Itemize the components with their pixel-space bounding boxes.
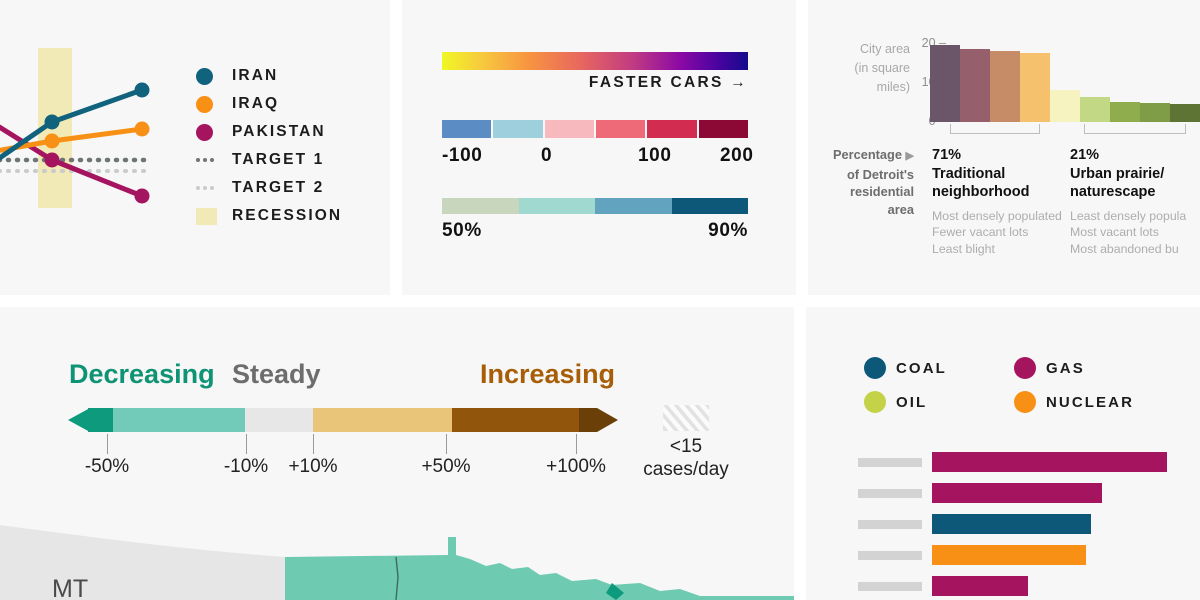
legend-label: PAKISTAN bbox=[232, 123, 326, 141]
tick-mark bbox=[576, 434, 577, 454]
legend-dot-icon bbox=[1014, 357, 1036, 379]
legend-dot-icon bbox=[864, 357, 886, 379]
row-label-placeholder bbox=[858, 551, 922, 560]
group-title-line: Traditional bbox=[932, 165, 1082, 184]
tick-label: 100 bbox=[638, 145, 672, 167]
heading-decreasing: Decreasing bbox=[69, 359, 215, 390]
bar bbox=[932, 545, 1086, 565]
detroit-group-prairie: 21% Urban prairie/ naturescape Least den… bbox=[1070, 146, 1200, 257]
tick-mark bbox=[313, 434, 314, 454]
bar bbox=[990, 51, 1020, 122]
legend-item-nuclear[interactable]: NUCLEAR bbox=[1014, 391, 1164, 413]
panel-color-scales: FASTER CARS → -100 0 100 200 50% 90% bbox=[402, 0, 796, 295]
group-title-line: neighborhood bbox=[932, 183, 1082, 202]
panel-covid-trend: Decreasing Steady Increasing -50% -10% +… bbox=[0, 307, 794, 600]
series-point-iraq bbox=[135, 122, 150, 137]
legend-label: IRAN bbox=[232, 67, 278, 85]
map-state-active bbox=[285, 537, 794, 600]
color-swatch bbox=[442, 120, 491, 138]
group-title-line: Urban prairie/ bbox=[1070, 165, 1200, 184]
legend-dot-icon bbox=[196, 68, 224, 85]
y-axis-title-line: City area bbox=[828, 40, 910, 59]
color-swatch bbox=[595, 198, 672, 214]
heading-steady: Steady bbox=[232, 359, 321, 390]
series-point-iraq bbox=[45, 134, 60, 149]
caption-line: of Detroit's bbox=[828, 166, 914, 184]
row-label-placeholder bbox=[858, 458, 922, 467]
bar-row bbox=[858, 514, 1198, 534]
legend-item-iran[interactable]: IRAN bbox=[196, 62, 342, 90]
row-label-placeholder bbox=[858, 582, 922, 591]
covid-diverging-scale bbox=[68, 406, 618, 434]
caption-line: residential bbox=[828, 183, 914, 201]
caption-line: area bbox=[828, 201, 914, 219]
line-chart-plot bbox=[0, 40, 160, 230]
series-point-pakistan bbox=[45, 153, 60, 168]
legend-item-iraq[interactable]: IRAQ bbox=[196, 90, 342, 118]
group-notes: Least densely popula Most vacant lots Mo… bbox=[1070, 208, 1200, 258]
legend-label: IRAQ bbox=[232, 95, 279, 113]
bar bbox=[1050, 90, 1080, 122]
tick-label: -100 bbox=[442, 145, 482, 167]
color-swatch bbox=[545, 120, 594, 138]
series-point-iran bbox=[45, 115, 60, 130]
sequential-color-segments bbox=[442, 198, 748, 214]
series-point-pakistan bbox=[135, 189, 150, 204]
heading-increasing: Increasing bbox=[480, 359, 615, 390]
bar bbox=[960, 49, 990, 122]
us-choropleth-map[interactable]: MT bbox=[0, 497, 794, 600]
note-line: Most densely populated bbox=[932, 208, 1082, 225]
legend-dot-icon bbox=[864, 391, 886, 413]
y-axis-title: City area (in square miles) bbox=[828, 40, 910, 97]
note-line: Least blight bbox=[932, 241, 1082, 258]
group-bracket-traditional bbox=[950, 124, 1040, 134]
panel-energy: COAL GAS OIL NUCLEAR bbox=[806, 307, 1200, 600]
color-swatch bbox=[699, 120, 748, 138]
note-line: Least densely popula bbox=[1070, 208, 1200, 225]
caption-line: Percentage ▶ bbox=[828, 146, 914, 166]
group-notes: Most densely populated Fewer vacant lots… bbox=[932, 208, 1082, 258]
tick-label: +50% bbox=[421, 456, 470, 478]
legend-item-gas[interactable]: GAS bbox=[1014, 357, 1164, 379]
y-axis-title-line: miles) bbox=[828, 78, 910, 97]
scale-segment bbox=[88, 408, 113, 432]
y-axis-title-line: (in square bbox=[828, 59, 910, 78]
scale-right-arrow bbox=[597, 408, 618, 432]
legend-dot-icon bbox=[196, 96, 224, 113]
detroit-group-traditional: 71% Traditional neighborhood Most densel… bbox=[932, 146, 1082, 257]
dotted-line-icon bbox=[196, 158, 224, 162]
legend-label: COAL bbox=[896, 360, 947, 377]
color-swatch bbox=[442, 198, 519, 214]
bar bbox=[1080, 97, 1110, 122]
tick-label: +10% bbox=[288, 456, 337, 478]
scale-left-arrow bbox=[68, 408, 90, 432]
color-swatch bbox=[596, 120, 645, 138]
legend-item-target-1[interactable]: TARGET 1 bbox=[196, 146, 342, 174]
color-swatch bbox=[647, 120, 696, 138]
legend-item-pakistan[interactable]: PAKISTAN bbox=[196, 118, 342, 146]
tick-label: -50% bbox=[85, 456, 129, 478]
bar-row bbox=[858, 483, 1198, 503]
scale-segment bbox=[313, 408, 452, 432]
tick-mark bbox=[446, 434, 447, 454]
dotted-line-icon bbox=[196, 186, 224, 190]
legend-item-coal[interactable]: COAL bbox=[864, 357, 1014, 379]
note-line: Most abandoned bu bbox=[1070, 241, 1200, 258]
bar bbox=[930, 45, 960, 122]
bar bbox=[1020, 53, 1050, 122]
row-label-placeholder bbox=[858, 520, 922, 529]
legend-label: OIL bbox=[896, 394, 927, 411]
triangle-right-icon: ▶ bbox=[906, 150, 914, 162]
note-line: Fewer vacant lots bbox=[932, 224, 1082, 241]
group-percentage: 71% bbox=[932, 146, 1082, 165]
energy-legend: COAL GAS OIL NUCLEAR bbox=[864, 357, 1164, 425]
legend-label: NUCLEAR bbox=[1046, 394, 1134, 411]
panel-detroit: City area (in square miles) 20 – 10 – 0 … bbox=[808, 0, 1200, 295]
legend-square-icon bbox=[196, 208, 224, 225]
legend-dot-icon bbox=[196, 124, 224, 141]
legend-item-target-2[interactable]: TARGET 2 bbox=[196, 174, 342, 202]
tick-label-max: 90% bbox=[708, 220, 748, 242]
bar bbox=[932, 483, 1102, 503]
detroit-left-caption: Percentage ▶ of Detroit's residential ar… bbox=[828, 146, 914, 218]
bar-row bbox=[858, 545, 1198, 565]
map-state-label-mt: MT bbox=[52, 575, 88, 600]
line-chart-legend: IRAN IRAQ PAKISTAN TARGET 1 TARG bbox=[196, 62, 342, 230]
bar bbox=[932, 514, 1091, 534]
continuous-color-ramp bbox=[442, 52, 748, 70]
energy-bar-chart bbox=[858, 452, 1198, 600]
diverging-color-segments bbox=[442, 120, 748, 138]
faster-cars-label: FASTER CARS → bbox=[589, 74, 748, 92]
legend-label: GAS bbox=[1046, 360, 1085, 377]
scale-segment bbox=[113, 408, 245, 432]
group-bracket-prairie bbox=[1084, 124, 1186, 134]
row-label-placeholder bbox=[858, 489, 922, 498]
bar bbox=[1110, 102, 1140, 122]
tick-mark bbox=[107, 434, 108, 454]
legend-item-oil[interactable]: OIL bbox=[864, 391, 1014, 413]
detroit-bar-chart bbox=[930, 40, 1200, 122]
faster-cars-text: FASTER CARS bbox=[589, 74, 724, 91]
series-point-iran bbox=[135, 83, 150, 98]
scale-segment bbox=[452, 408, 579, 432]
note-line: Most vacant lots bbox=[1070, 224, 1200, 241]
tick-label: 200 bbox=[720, 145, 754, 167]
bar-row bbox=[858, 452, 1198, 472]
tick-label: -10% bbox=[224, 456, 268, 478]
legend-dot-icon bbox=[1014, 391, 1036, 413]
bar-row bbox=[858, 576, 1198, 596]
color-swatch bbox=[519, 198, 596, 214]
hatch-caption-line: cases/day bbox=[624, 458, 748, 481]
color-swatch bbox=[672, 198, 749, 214]
tick-label: 0 bbox=[541, 145, 552, 167]
hatched-swatch-icon bbox=[663, 405, 709, 431]
scale-segment bbox=[579, 408, 597, 432]
bar bbox=[1140, 103, 1170, 122]
hatch-caption-line: <15 bbox=[624, 435, 748, 458]
group-percentage: 21% bbox=[1070, 146, 1200, 165]
group-title-line: naturescape bbox=[1070, 183, 1200, 202]
sequential-tick-labels: 50% 90% bbox=[442, 220, 748, 242]
bar bbox=[932, 576, 1028, 596]
legend-label: RECESSION bbox=[232, 207, 342, 225]
color-swatch bbox=[493, 120, 542, 138]
dashboard-board: IRAN IRAQ PAKISTAN TARGET 1 TARG bbox=[0, 0, 1200, 600]
scale-segment bbox=[245, 408, 313, 432]
legend-label: TARGET 2 bbox=[232, 179, 324, 197]
bar bbox=[932, 452, 1167, 472]
arrow-right-icon: → bbox=[730, 74, 748, 91]
hatch-caption: <15 cases/day bbox=[624, 435, 748, 481]
panel-line-chart: IRAN IRAQ PAKISTAN TARGET 1 TARG bbox=[0, 0, 390, 295]
legend-label: TARGET 1 bbox=[232, 151, 324, 169]
map-state-inactive bbox=[0, 525, 285, 600]
legend-item-recession[interactable]: RECESSION bbox=[196, 202, 342, 230]
tick-mark bbox=[246, 434, 247, 454]
bar bbox=[1170, 104, 1200, 122]
tick-label-min: 50% bbox=[442, 220, 482, 242]
tick-label: +100% bbox=[546, 456, 606, 478]
